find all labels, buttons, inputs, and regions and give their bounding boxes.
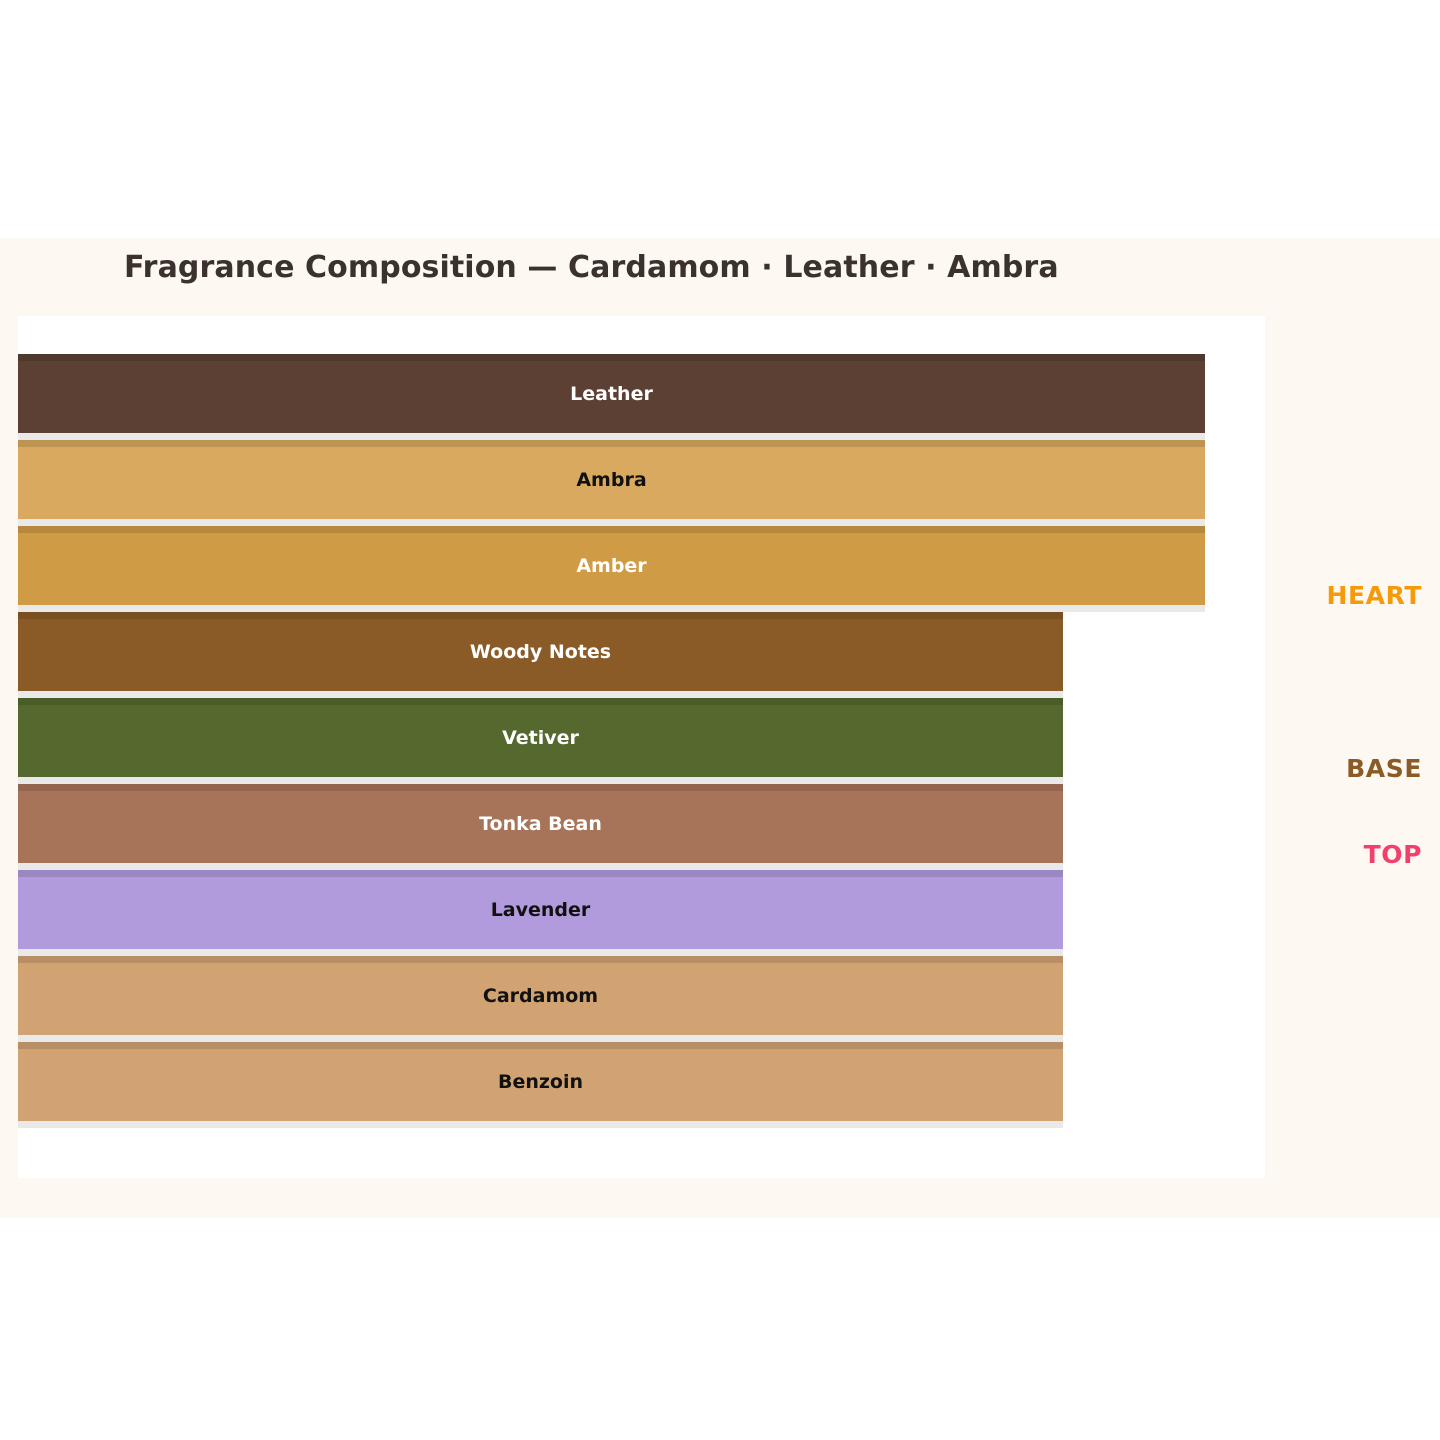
chart-legend: HEARTBASETOP [1290, 238, 1440, 1218]
bar-fill[interactable]: Vetiver [18, 698, 1063, 777]
bar-row[interactable]: Lavender [18, 870, 1265, 956]
bar-label: Woody Notes [470, 641, 611, 663]
bar-fill[interactable]: Leather [18, 354, 1205, 433]
bar-label: Benzoin [498, 1071, 583, 1093]
bar-series: LeatherAmbraAmberWoody NotesVetiverTonka… [18, 316, 1265, 1178]
bar-label: Lavender [491, 899, 591, 921]
legend-item-top[interactable]: TOP [1364, 840, 1422, 869]
bar-row[interactable]: Leather [18, 354, 1265, 440]
bar-row[interactable]: Tonka Bean [18, 784, 1265, 870]
bar-row[interactable]: Benzoin [18, 1042, 1265, 1128]
bar-label: Tonka Bean [479, 813, 602, 835]
plot-area: LeatherAmbraAmberWoody NotesVetiverTonka… [18, 316, 1265, 1178]
bar-label: Ambra [576, 469, 646, 491]
bar-fill[interactable]: Tonka Bean [18, 784, 1063, 863]
bar-fill[interactable]: Cardamom [18, 956, 1063, 1035]
bar-row[interactable]: Ambra [18, 440, 1265, 526]
legend-item-heart[interactable]: HEART [1326, 581, 1422, 610]
bar-fill[interactable]: Benzoin [18, 1042, 1063, 1121]
bar-fill[interactable]: Lavender [18, 870, 1063, 949]
legend-item-base[interactable]: BASE [1346, 754, 1422, 783]
bar-row[interactable]: Vetiver [18, 698, 1265, 784]
bar-fill[interactable]: Amber [18, 526, 1205, 605]
bar-label: Vetiver [502, 727, 579, 749]
bar-row[interactable]: Amber [18, 526, 1265, 612]
chart-title: Fragrance Composition — Cardamom · Leath… [124, 250, 1059, 285]
bar-label: Amber [576, 555, 646, 577]
bar-label: Cardamom [483, 985, 598, 1007]
bar-fill[interactable]: Woody Notes [18, 612, 1063, 691]
bar-row[interactable]: Cardamom [18, 956, 1265, 1042]
bar-label: Leather [570, 383, 653, 405]
bar-row[interactable]: Woody Notes [18, 612, 1265, 698]
fragrance-composition-chart: Fragrance Composition — Cardamom · Leath… [0, 0, 1440, 1440]
bar-fill[interactable]: Ambra [18, 440, 1205, 519]
